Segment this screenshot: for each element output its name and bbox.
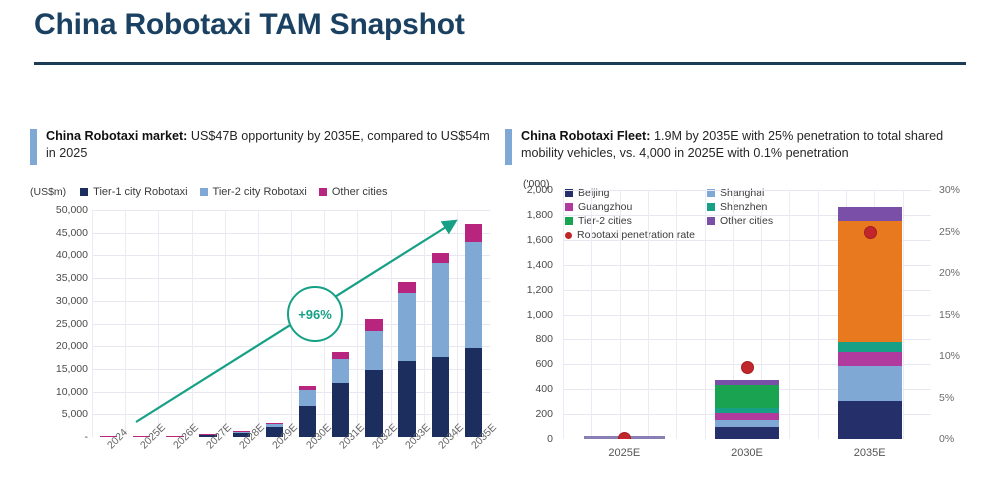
slide-root: China Robotaxi TAM Snapshot China Robota…: [0, 0, 1000, 499]
bar-segment-2030E-2: [715, 413, 779, 420]
gridline-v-5: [705, 190, 706, 439]
bar-segment-2030E-0: [715, 427, 779, 439]
page-title: China Robotaxi TAM Snapshot: [34, 8, 465, 42]
y2-tick-2: 10%: [939, 350, 979, 362]
title-divider: [34, 62, 966, 65]
penetration-dot-2030E: [741, 361, 754, 374]
gridline-v-1: [125, 210, 126, 437]
left-accent-bar: [30, 129, 37, 165]
gridline-v-0: [92, 210, 93, 437]
bar-segment-2029E-1: [266, 424, 283, 427]
right-header-bold: China Robotaxi Fleet:: [521, 129, 650, 143]
y-tick-0: 0: [505, 433, 553, 445]
bar-segment-2032E-0: [365, 370, 382, 437]
right-accent-bar: [505, 129, 512, 165]
bar-segment-2035E-2: [838, 352, 902, 366]
bar-segment-2031E-0: [332, 383, 349, 437]
bar-2035E: [465, 210, 482, 437]
gridline-v-3: [192, 210, 193, 437]
right-panel: China Robotaxi Fleet: 1.9M by 2035E with…: [505, 128, 985, 493]
right-chart-plot: [563, 190, 931, 439]
y-tick-1: 200: [505, 408, 553, 420]
left-panel: China Robotaxi market: US$47B opportunit…: [30, 128, 500, 493]
y-tick-6: 1,200: [505, 284, 553, 296]
gridline-v-11: [457, 210, 458, 437]
y-tick-1: 5,000: [36, 408, 88, 420]
gridline-v-9: [818, 190, 819, 439]
bar-segment-2033E-1: [398, 293, 415, 361]
bar-segment-2034E-1: [432, 263, 449, 357]
right-panel-header: China Robotaxi Fleet: 1.9M by 2035E with…: [505, 128, 985, 168]
gridline-v-0: [563, 190, 564, 439]
bar-segment-2035E-3: [838, 342, 902, 353]
left-header-bold: China Robotaxi market:: [46, 129, 187, 143]
bar-segment-2030E-1: [715, 420, 779, 427]
x-label-2025E: 2025E: [563, 447, 686, 459]
penetration-dot-2035E: [864, 226, 877, 239]
y-tick-2: 10,000: [36, 386, 88, 398]
gridline-v-4: [225, 210, 226, 437]
gridline-v-8: [357, 210, 358, 437]
bar-2025E: [584, 190, 665, 439]
y2-tick-5: 25%: [939, 226, 979, 238]
x-label-2030E: 2030E: [686, 447, 809, 459]
y-tick-5: 1,000: [505, 309, 553, 321]
y-tick-3: 600: [505, 358, 553, 370]
y-tick-8: 1,600: [505, 234, 553, 246]
y-tick-9: 45,000: [36, 227, 88, 239]
legend-swatch-1: [200, 188, 208, 196]
y2-tick-0: 0%: [939, 433, 979, 445]
bar-2033E: [398, 210, 415, 437]
bar-segment-2029E-2: [266, 423, 283, 424]
bar-2028E: [233, 210, 250, 437]
y-tick-2: 400: [505, 383, 553, 395]
bar-segment-2032E-2: [365, 319, 382, 330]
bar-segment-2035E-0: [838, 401, 902, 439]
bar-segment-2031E-1: [332, 359, 349, 383]
bar-2032E: [365, 210, 382, 437]
y-tick-4: 20,000: [36, 340, 88, 352]
bar-segment-2034E-2: [432, 253, 449, 263]
y-tick-10: 2,000: [505, 184, 553, 196]
legend-item-0: Tier-1 city Robotaxi: [80, 186, 187, 198]
y-tick-3: 15,000: [36, 363, 88, 375]
right-header-text: China Robotaxi Fleet: 1.9M by 2035E with…: [521, 128, 985, 162]
cagr-callout: +96%: [287, 286, 343, 342]
y-tick-0: -: [36, 431, 88, 443]
left-header-text: China Robotaxi market: US$47B opportunit…: [46, 128, 500, 162]
gridline-v-12: [903, 190, 904, 439]
bar-segment-2033E-2: [398, 282, 415, 293]
legend-swatch-0: [80, 188, 88, 196]
gridline-v-4: [676, 190, 677, 439]
y2-tick-6: 30%: [939, 184, 979, 196]
y-tick-9: 1,800: [505, 209, 553, 221]
left-panel-header: China Robotaxi market: US$47B opportunit…: [30, 128, 500, 168]
y-tick-7: 35,000: [36, 272, 88, 284]
gridline-v-9: [391, 210, 392, 437]
y2-tick-3: 15%: [939, 309, 979, 321]
bar-segment-2035E-1: [838, 366, 902, 401]
gridline-v-10: [424, 210, 425, 437]
bar-2030E: [715, 190, 779, 439]
gridline-v-5: [258, 210, 259, 437]
bar-segment-2030E-2: [299, 386, 316, 391]
bar-segment-2034E-0: [432, 357, 449, 437]
legend-label-1: Tier-2 city Robotaxi: [213, 186, 307, 198]
bar-segment-2032E-1: [365, 331, 382, 370]
x-label-2035E: 2035E: [808, 447, 931, 459]
bar-segment-2030E-3: [715, 408, 779, 413]
y-tick-8: 40,000: [36, 249, 88, 261]
left-chart-plot: +96%: [92, 210, 490, 437]
bar-segment-2035E-0: [465, 348, 482, 437]
bar-segment-2035E-6: [838, 207, 902, 220]
gridline-v-8: [789, 190, 790, 439]
bar-segment-2030E-4: [715, 385, 779, 407]
bar-segment-2030E-6: [715, 380, 779, 386]
bar-2029E: [266, 210, 283, 437]
left-chart-legend: (US$m) Tier-1 city RobotaxiTier-2 city R…: [30, 186, 400, 198]
y2-tick-4: 20%: [939, 267, 979, 279]
legend-label-2: Other cities: [332, 186, 388, 198]
bar-segment-2035E-2: [465, 224, 482, 242]
bar-segment-2031E-2: [332, 352, 349, 359]
legend-item-1: Tier-2 city Robotaxi: [200, 186, 307, 198]
bar-2034E: [432, 210, 449, 437]
bar-2027E: [199, 210, 216, 437]
legend-item-2: Other cities: [319, 186, 388, 198]
y-tick-10: 50,000: [36, 204, 88, 216]
bar-segment-2035E-5: [838, 221, 902, 342]
bar-segment-2033E-0: [398, 361, 415, 437]
y-tick-5: 25,000: [36, 318, 88, 330]
y-tick-4: 800: [505, 333, 553, 345]
bar-2024: [100, 210, 117, 437]
legend-swatch-2: [319, 188, 327, 196]
y-tick-7: 1,400: [505, 259, 553, 271]
bar-2026E: [166, 210, 183, 437]
legend-label-0: Tier-1 city Robotaxi: [93, 186, 187, 198]
bar-segment-2035E-1: [465, 242, 482, 348]
left-axis-unit: (US$m): [30, 186, 66, 198]
y-tick-6: 30,000: [36, 295, 88, 307]
bar-2025E: [133, 210, 150, 437]
y2-tick-1: 5%: [939, 392, 979, 404]
bar-segment-2030E-1: [299, 390, 316, 406]
gridline-v-2: [158, 210, 159, 437]
